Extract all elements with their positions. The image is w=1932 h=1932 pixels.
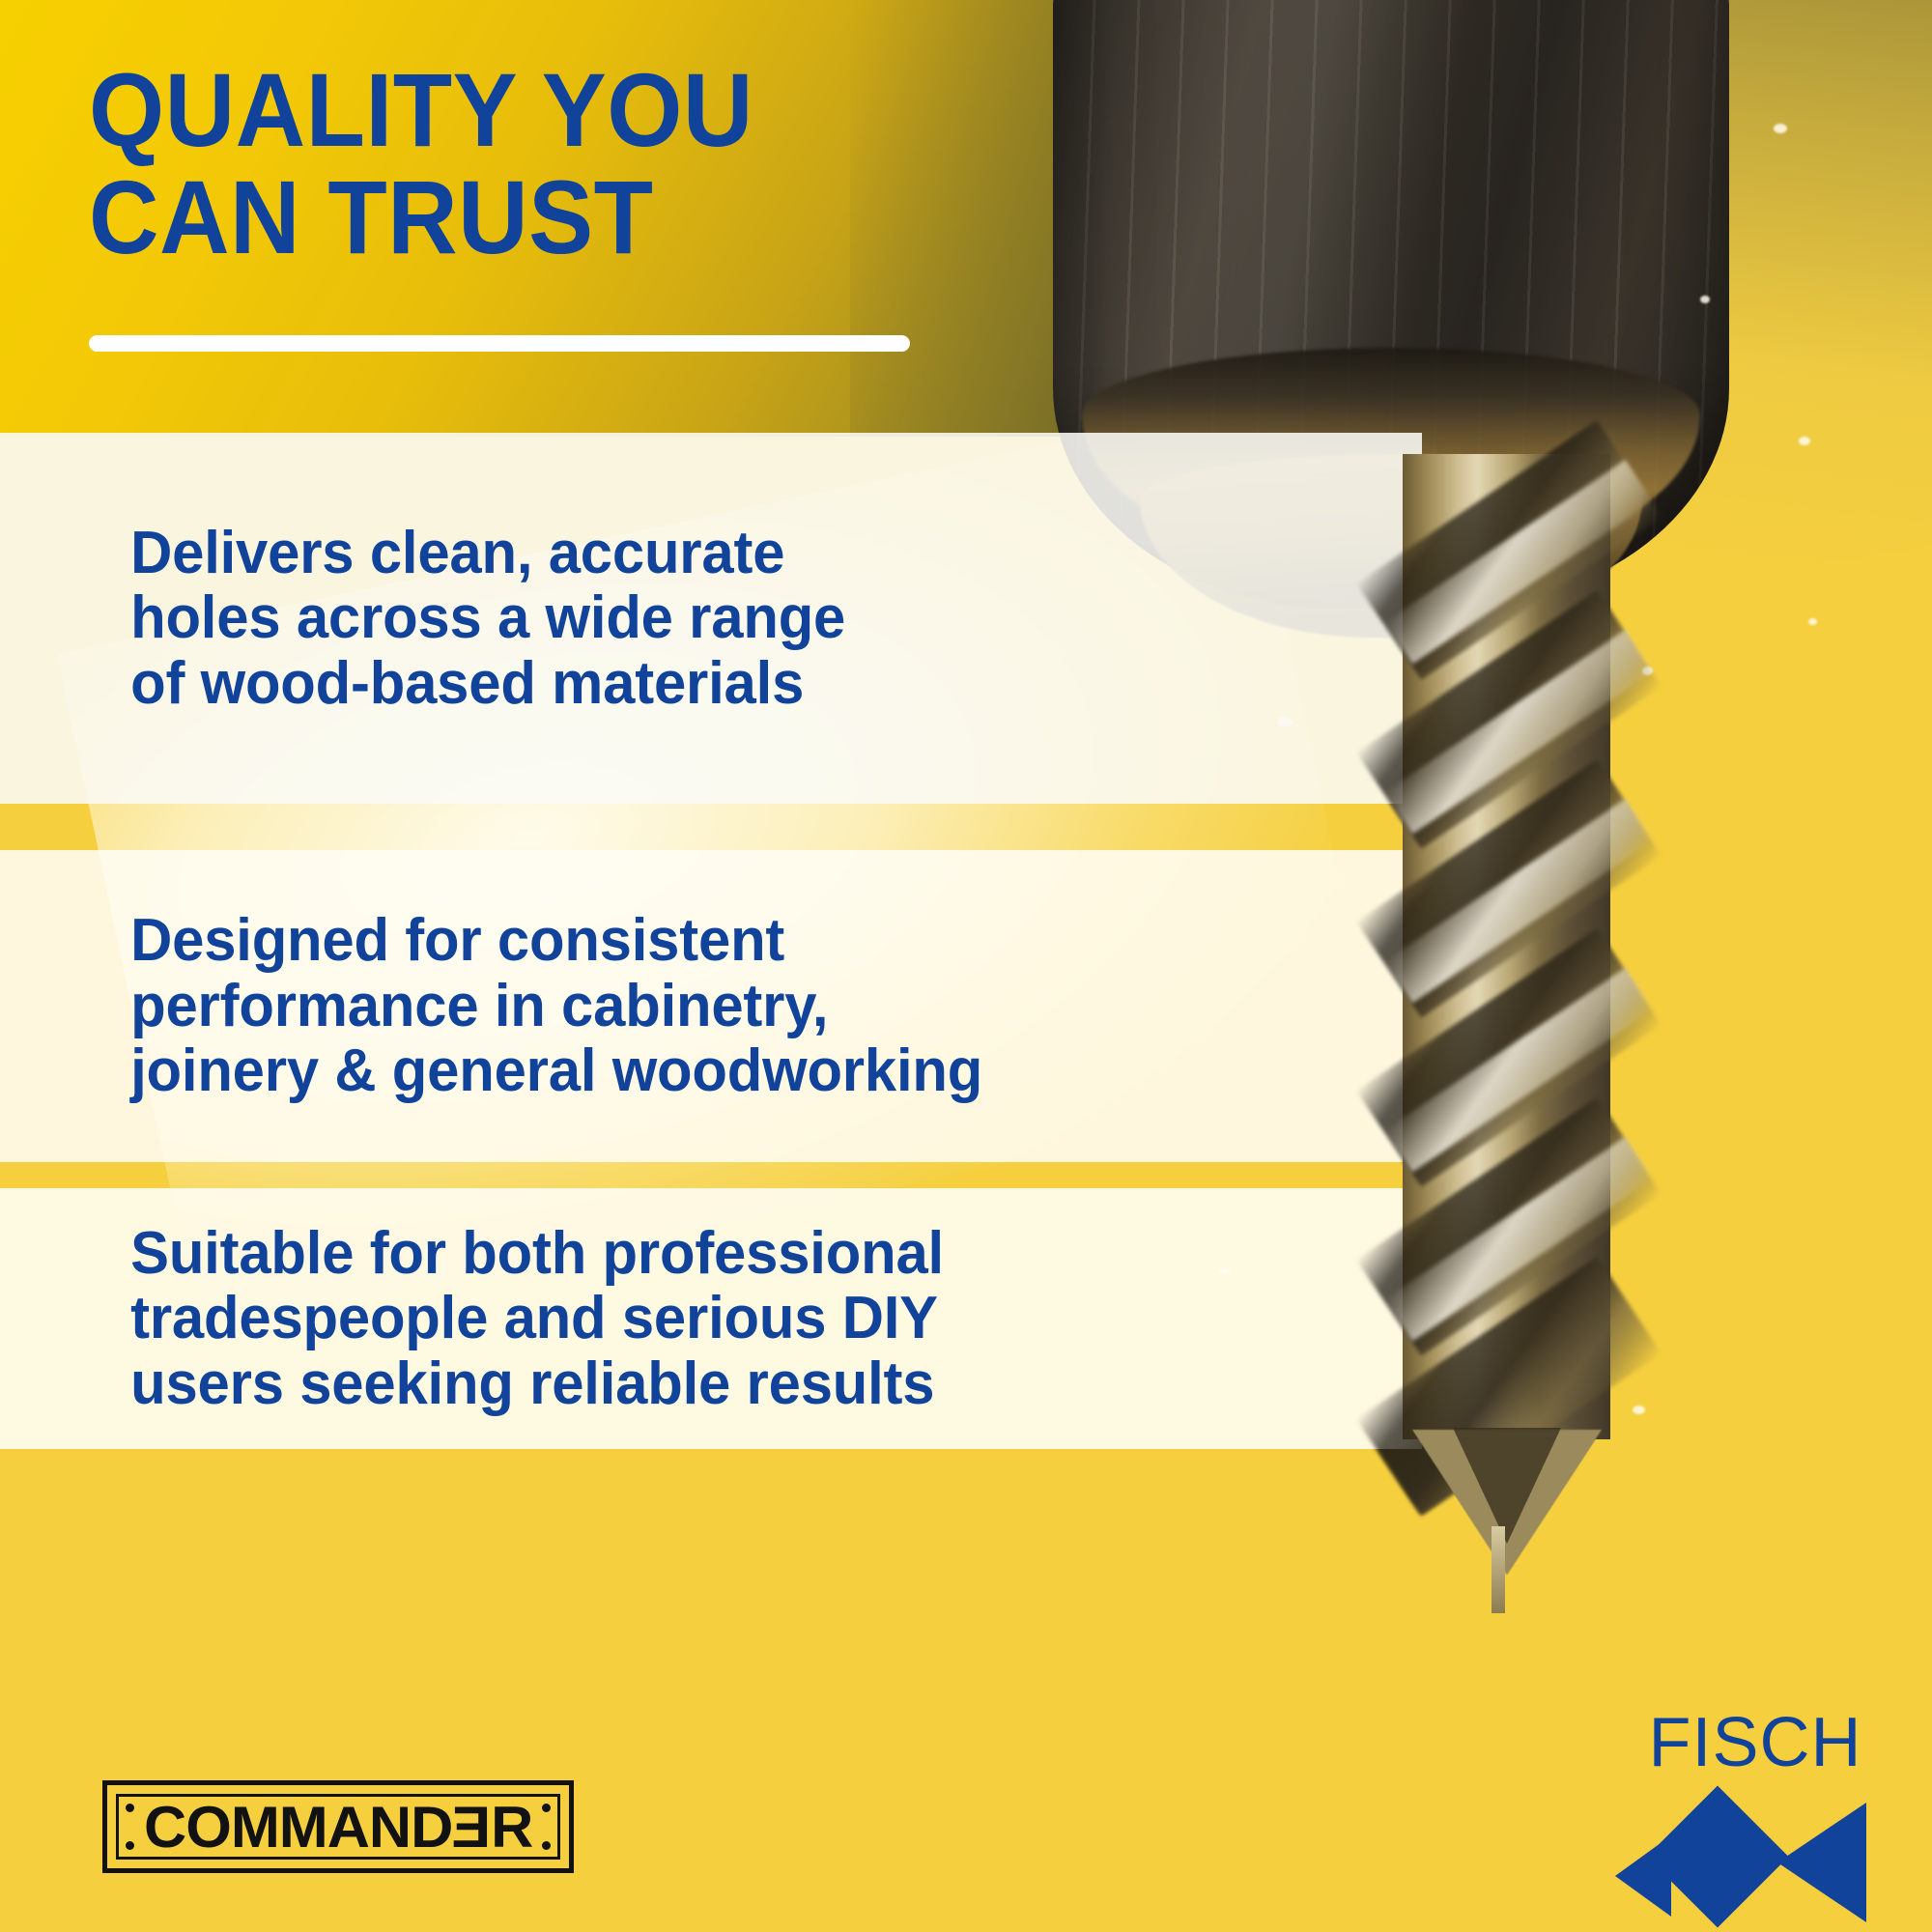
feature-2-line-3: joinery & general woodworking [130,1038,982,1104]
headline-line-2: CAN TRUST [89,163,987,270]
spiral-drill-bit-foreground [1403,454,1610,1565]
headline-line-1: QUALITY YOU [89,56,987,163]
commander-corner-dot [542,1841,551,1850]
fish-tail-triangle [1777,1803,1866,1922]
feature-band-1: Delivers clean, accurate holes across a … [0,433,1422,804]
fish-icon [1615,1791,1895,1926]
dust-speck [1633,1406,1645,1414]
fisch-logo: FISCH [1615,1708,1895,1922]
dust-speck [1808,618,1817,625]
feature-1-line-1: Delivers clean, accurate [130,521,845,586]
feature-1-line-2: holes across a wide range [130,585,845,651]
headline-underline-rule [89,335,910,352]
feature-text-2: Designed for consistent performance in c… [0,908,982,1104]
feature-2-line-1: Designed for consistent [130,908,982,974]
commander-word-prefix: COMMAND [144,1795,452,1860]
commander-corner-dot [126,1804,134,1812]
commander-wordmark: COMMANDER [144,1794,532,1861]
feature-1-line-3: of wood-based materials [130,651,845,717]
dust-speck [1799,437,1810,445]
commander-logo: COMMANDER [102,1780,574,1873]
page-title: QUALITY YOU CAN TRUST [89,56,1055,270]
fisch-wordmark: FISCH [1615,1708,1895,1777]
dust-speck [1774,124,1787,133]
commander-corner-dot [126,1841,134,1850]
feature-text-3: Suitable for both professional tradespeo… [0,1221,944,1417]
drill-bit-centre-spur [1492,1526,1505,1613]
dust-speck [1700,296,1710,303]
feature-band-3: Suitable for both professional tradespeo… [0,1188,1422,1449]
feature-2-line-2: performance in cabinetry, [130,974,982,1039]
feature-3-line-3: users seeking reliable results [130,1351,944,1417]
poster-canvas: QUALITY YOU CAN TRUST Delivers clean, ac… [0,0,1932,1932]
commander-word-suffix: R [491,1795,532,1860]
feature-3-line-1: Suitable for both professional [130,1221,944,1287]
commander-corner-dot [542,1804,551,1812]
feature-band-2: Designed for consistent performance in c… [0,850,1422,1162]
commander-word-reversed-e: E [452,1794,491,1861]
feature-3-line-2: tradespeople and serious DIY [130,1286,944,1351]
drill-bit-tip-shadow [1453,1428,1561,1544]
feature-text-1: Delivers clean, accurate holes across a … [0,521,845,717]
